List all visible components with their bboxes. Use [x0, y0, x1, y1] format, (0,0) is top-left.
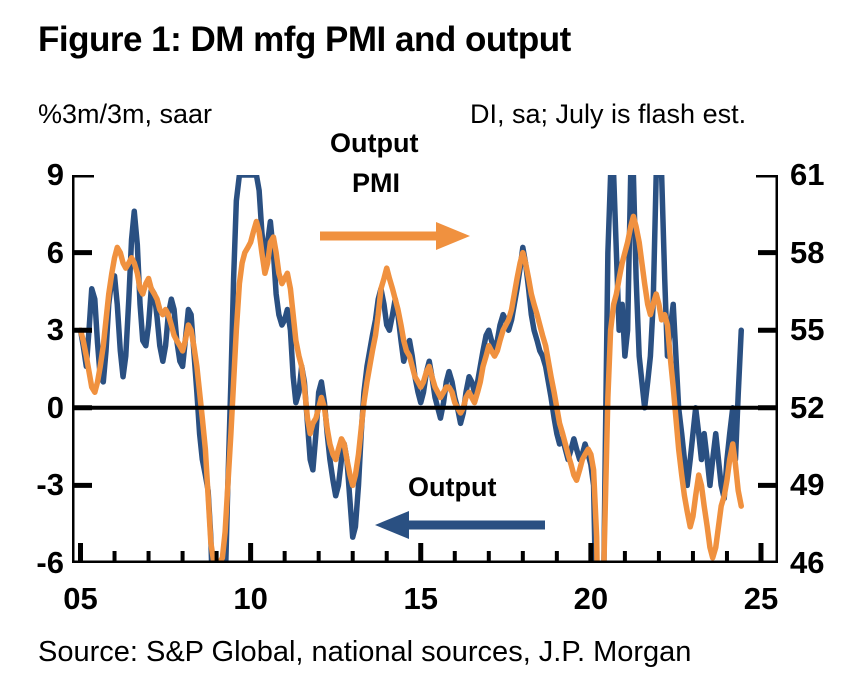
- x-axis-tick-label: 20: [556, 581, 626, 617]
- right-axis-unit-label: DI, sa; July is flash est.: [470, 99, 746, 130]
- x-axis-tick-label: 05: [46, 581, 116, 617]
- x-axis-tick-label: 25: [726, 581, 796, 617]
- y-axis-tick-label-right: 46: [790, 547, 850, 578]
- y-axis-tick-label-right: 61: [790, 159, 850, 190]
- y-axis-tick-label-left: -3: [8, 469, 64, 500]
- y-axis-tick-label-left: 9: [8, 159, 64, 190]
- x-axis-tick-label: 15: [386, 581, 456, 617]
- figure-container: Figure 1: DM mfg PMI and output %3m/3m, …: [0, 0, 852, 689]
- x-axis-tick-label: 10: [216, 581, 286, 617]
- y-axis-tick-label-right: 49: [790, 469, 850, 500]
- y-axis-tick-label-right: 55: [790, 314, 850, 345]
- page-title: Figure 1: DM mfg PMI and output: [38, 20, 571, 60]
- source-note: Source: S&P Global, national sources, J.…: [38, 636, 691, 669]
- plot-area: [72, 175, 778, 563]
- left-axis-unit-label: %3m/3m, saar: [38, 99, 212, 130]
- output-pmi-annotation-line1: Output: [330, 128, 418, 159]
- y-axis-tick-label-left: 6: [8, 237, 64, 268]
- y-axis-tick-label-left: 3: [8, 314, 64, 345]
- y-axis-tick-label-left: -6: [8, 547, 64, 578]
- y-axis-tick-label-right: 58: [790, 237, 850, 268]
- y-axis-tick-label-left: 0: [8, 392, 64, 423]
- y-axis-tick-label-right: 52: [790, 392, 850, 423]
- chart-svg: [72, 175, 778, 563]
